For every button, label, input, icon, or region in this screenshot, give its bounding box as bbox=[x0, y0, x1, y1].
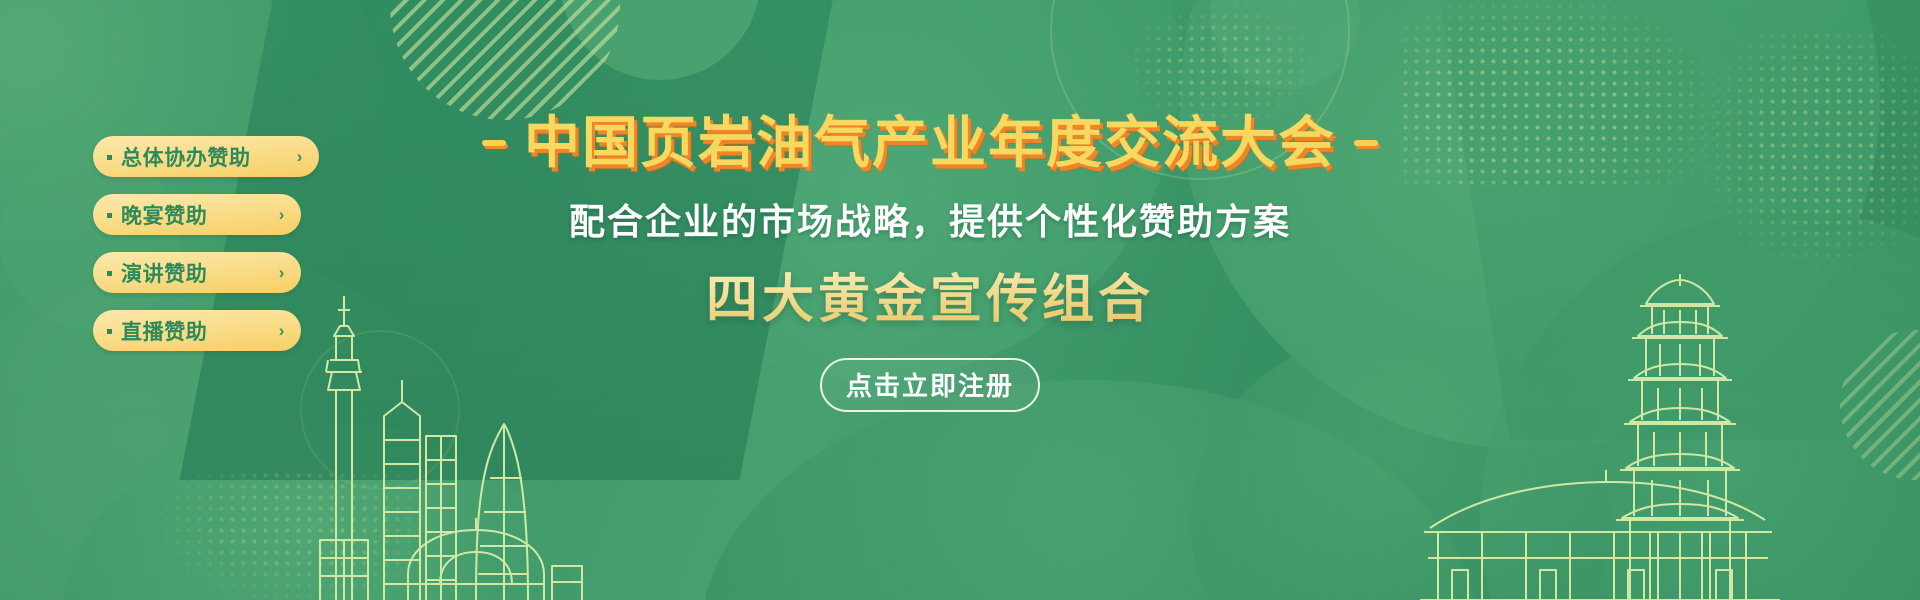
sponsor-button-label: 总体协办赞助 bbox=[121, 142, 284, 172]
register-button[interactable]: 点击立即注册 bbox=[820, 358, 1040, 412]
sponsor-button-livestream[interactable]: 直播赞助 › bbox=[93, 310, 301, 351]
sponsor-button-speech[interactable]: 演讲赞助 › bbox=[93, 252, 301, 293]
main-title-row: 中国页岩油气产业年度交流大会 bbox=[430, 112, 1430, 175]
decor-halftone-dots bbox=[1690, 30, 1920, 280]
sponsor-button-banquet[interactable]: 晚宴赞助 › bbox=[93, 194, 301, 235]
decor-halftone-dots bbox=[1400, 0, 1730, 190]
chevron-right-icon: › bbox=[279, 263, 285, 283]
headline-block: 中国页岩油气产业年度交流大会 配合企业的市场战略，提供个性化赞助方案 四大黄金宣… bbox=[430, 112, 1430, 412]
sponsor-button-label: 晚宴赞助 bbox=[121, 200, 266, 230]
square-bullet-icon bbox=[107, 329, 112, 334]
chevron-right-icon: › bbox=[297, 147, 303, 167]
sponsor-button-overall[interactable]: 总体协办赞助 › bbox=[93, 136, 319, 177]
square-bullet-icon bbox=[107, 213, 112, 218]
sponsor-button-list: 总体协办赞助 › 晚宴赞助 › 演讲赞助 › 直播赞助 › bbox=[93, 136, 319, 351]
square-bullet-icon bbox=[107, 155, 112, 160]
chevron-right-icon: › bbox=[279, 205, 285, 225]
sponsor-button-label: 演讲赞助 bbox=[121, 258, 266, 288]
chevron-right-icon: › bbox=[279, 321, 285, 341]
gold-headline: 四大黄金宣传组合 bbox=[430, 257, 1430, 332]
dash-left-icon bbox=[482, 140, 506, 146]
subtitle: 配合企业的市场战略，提供个性化赞助方案 bbox=[430, 193, 1430, 245]
promo-banner: 总体协办赞助 › 晚宴赞助 › 演讲赞助 › 直播赞助 › 中国页岩油气产业年度… bbox=[0, 0, 1920, 600]
page-title: 中国页岩油气产业年度交流大会 bbox=[524, 112, 1336, 175]
square-bullet-icon bbox=[107, 271, 112, 276]
sponsor-button-label: 直播赞助 bbox=[121, 316, 266, 346]
decor-halftone-dots bbox=[150, 470, 450, 600]
dash-right-icon bbox=[1354, 140, 1378, 146]
